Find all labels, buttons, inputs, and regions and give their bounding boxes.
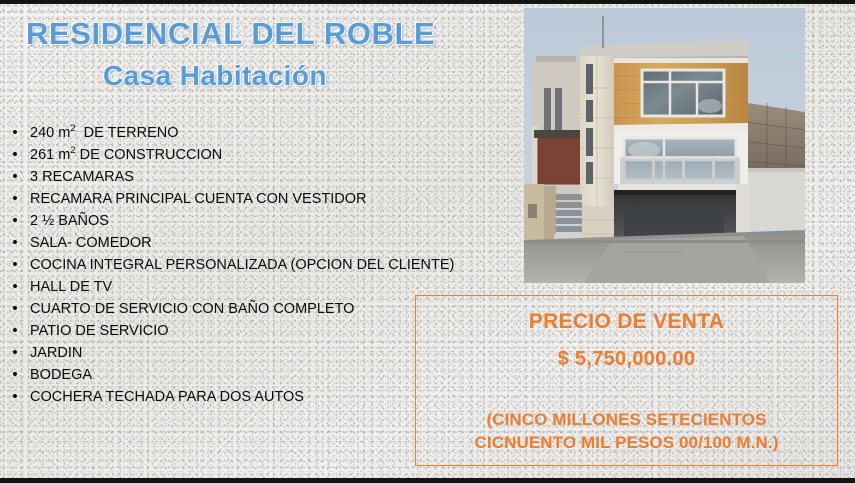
list-item-label: 240 m2 DE TERRENO: [30, 122, 178, 144]
price-amount: $ 5,750,000.00: [416, 348, 837, 371]
list-item-label: RECAMARA PRINCIPAL CUENTA CON VESTIDOR: [30, 188, 367, 210]
list-item: • 2 ½ BAÑOS: [0, 210, 520, 232]
price-in-words: (CINCO MILLONES SETECIENTOS CICNUENTO MI…: [424, 408, 829, 454]
bullet-icon: •: [10, 320, 20, 342]
list-item-label: COCINA INTEGRAL PERSONALIZADA (OPCION DE…: [30, 254, 454, 276]
bullet-icon: •: [10, 386, 20, 408]
list-item-label: PATIO DE SERVICIO: [30, 320, 169, 342]
top-band: [0, 0, 855, 4]
price-words-line-1: (CINCO MILLONES SETECIENTOS: [424, 408, 829, 431]
bullet-icon: •: [10, 122, 20, 144]
list-item-label: 2 ½ BAÑOS: [30, 210, 109, 232]
list-item-label: COCHERA TECHADA PARA DOS AUTOS: [30, 386, 304, 408]
list-item: • 261 m2 DE CONSTRUCCION: [0, 144, 520, 166]
list-item-label: JARDIN: [30, 342, 82, 364]
bullet-icon: •: [10, 364, 20, 386]
price-title: PRECIO DE VENTA: [416, 310, 837, 334]
list-item-label: 261 m2 DE CONSTRUCCION: [30, 144, 222, 166]
bullet-icon: •: [10, 232, 20, 254]
bullet-icon: •: [10, 210, 20, 232]
bullet-icon: •: [10, 254, 20, 276]
page-subtitle: Casa Habitación: [103, 60, 327, 92]
price-words-line-2: CICNUENTO MIL PESOS 00/100 M.N.): [424, 431, 829, 454]
page-title: RESIDENCIAL DEL ROBLE: [26, 16, 435, 52]
house-photo: [524, 8, 805, 283]
list-item-label: BODEGA: [30, 364, 92, 386]
list-item-label: HALL DE TV: [30, 276, 112, 298]
list-item-label: SALA- COMEDOR: [30, 232, 152, 254]
bullet-icon: •: [10, 298, 20, 320]
list-item: • SALA- COMEDOR: [0, 232, 520, 254]
list-item: • COCINA INTEGRAL PERSONALIZADA (OPCION …: [0, 254, 520, 276]
list-item-label: 3 RECAMARAS: [30, 166, 134, 188]
bullet-icon: •: [10, 166, 20, 188]
list-item: • RECAMARA PRINCIPAL CUENTA CON VESTIDOR: [0, 188, 520, 210]
list-item: • 240 m2 DE TERRENO: [0, 122, 520, 144]
bullet-icon: •: [10, 342, 20, 364]
bottom-band: [0, 478, 855, 483]
list-item: • 3 RECAMARAS: [0, 166, 520, 188]
bullet-icon: •: [10, 188, 20, 210]
price-box: PRECIO DE VENTA $ 5,750,000.00 (CINCO MI…: [415, 295, 838, 466]
list-item-label: CUARTO DE SERVICIO CON BAÑO COMPLETO: [30, 298, 354, 320]
bullet-icon: •: [10, 144, 20, 166]
real-estate-slide: RESIDENCIAL DEL ROBLE Casa Habitación • …: [0, 0, 855, 483]
bullet-icon: •: [10, 276, 20, 298]
